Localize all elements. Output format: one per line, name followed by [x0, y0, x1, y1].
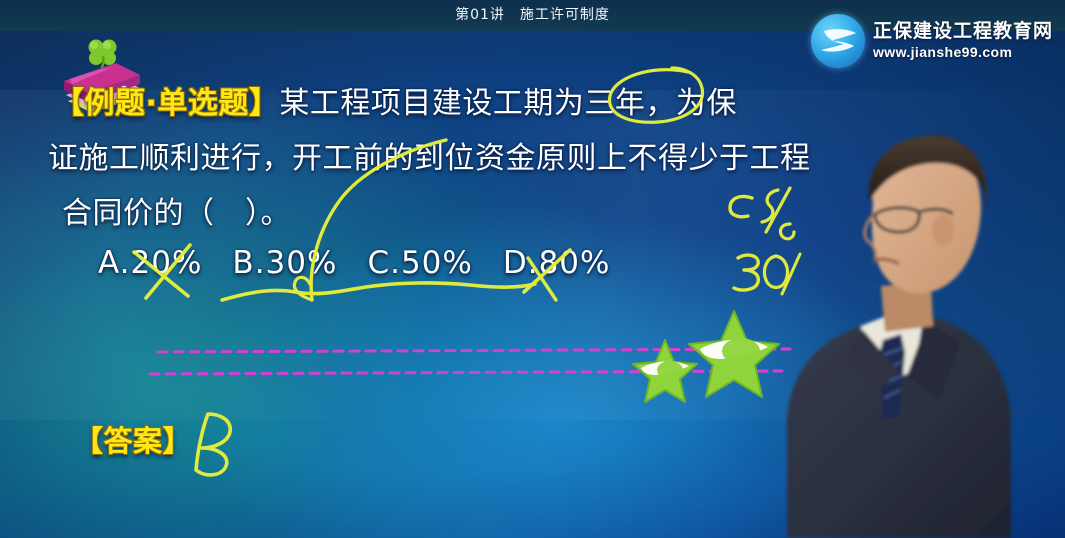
answer-tag: 【答案】: [74, 424, 192, 458]
answer-row: 【答案】 B: [74, 418, 192, 460]
question-line-1-text: 某工程项目建设工期为三年，为保: [279, 86, 737, 121]
question-line-1: 【例题·单选题】某工程项目建设工期为三年，为保: [54, 78, 737, 122]
presenter-figure: [765, 118, 1065, 538]
question-line-3: 合同价的（ ）。: [62, 188, 291, 232]
option-d[interactable]: D.80%: [503, 245, 611, 281]
presenter-ear: [932, 214, 954, 246]
option-b[interactable]: B.30%: [232, 245, 337, 281]
option-a[interactable]: A.20%: [98, 245, 202, 281]
logo-z-icon: [811, 14, 865, 68]
option-c[interactable]: C.50%: [367, 245, 472, 281]
question-line-2: 证施工顺利进行，开工前的到位资金原则上不得少于工程: [48, 133, 811, 177]
logo-text-block: 正保建设工程教育网 www.jianshe99.com: [873, 22, 1053, 61]
logo-website-url: www.jianshe99.com: [873, 45, 1053, 59]
site-logo: 正保建设工程教育网 www.jianshe99.com: [811, 14, 1053, 68]
options-row: A.20%B.30%C.50%D.80%: [98, 245, 611, 281]
question-type-tag: 【例题·单选题】: [54, 86, 279, 121]
video-lecture-frame: 第01讲 施工许可制度 正保建设工程教育网 www.jianshe99.com: [0, 0, 1065, 538]
logo-brand-name: 正保建设工程教育网: [873, 22, 1053, 41]
